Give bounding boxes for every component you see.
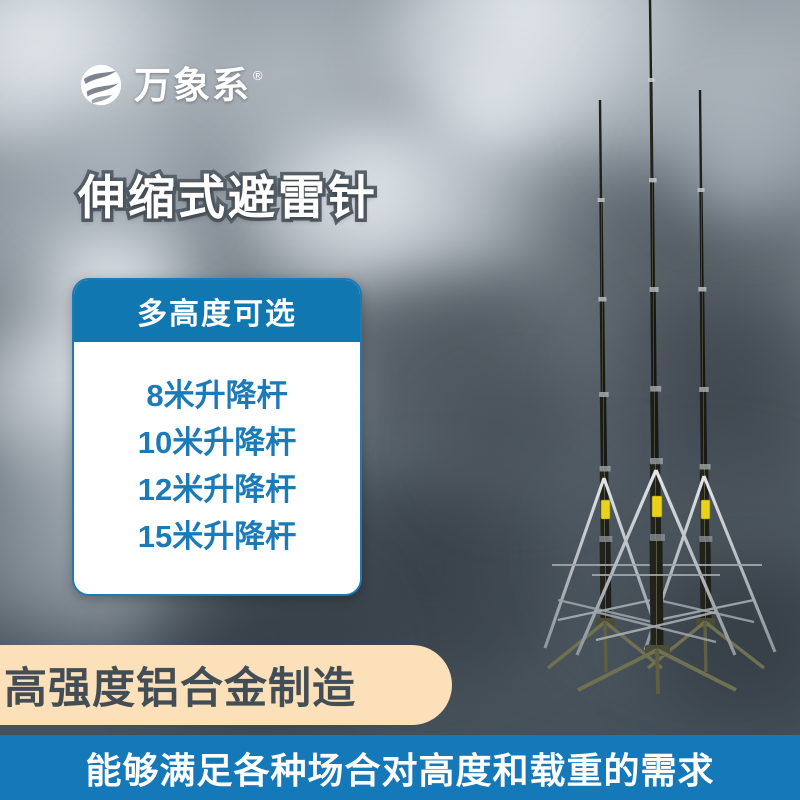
bottom-tagline-strip: 能够满足各种场合对高度和载重的需求 [0, 735, 800, 800]
list-item[interactable]: 12米升降杆 [138, 474, 296, 505]
mast-right [645, 90, 775, 672]
list-item[interactable]: 15米升降杆 [138, 521, 296, 552]
material-highlight-text: 高强度铝合金制造 [4, 654, 356, 716]
height-options-list: 8米升降杆 10米升降杆 12米升降杆 15米升降杆 [74, 342, 360, 594]
list-item[interactable]: 8米升降杆 [146, 380, 287, 411]
mast-left [545, 100, 663, 672]
material-highlight-banner: 高强度铝合金制造 [0, 645, 452, 725]
height-options-card: 多高度可选 8米升降杆 10米升降杆 12米升降杆 15米升降杆 [72, 278, 362, 596]
product-poster: 万象系 ® 伸缩式避雷针 多高度可选 8米升降杆 10米升降杆 12米升降杆 1… [0, 0, 800, 800]
brand-name: 万象系 [134, 67, 251, 104]
brand-logo: 万象系 ® [78, 62, 263, 108]
list-item[interactable]: 10米升降杆 [138, 427, 296, 458]
height-options-header-label: 多高度可选 [137, 289, 297, 333]
registered-trademark-icon: ® [253, 69, 263, 82]
page-title: 伸缩式避雷针 [78, 172, 378, 225]
bottom-tagline-text: 能够满足各种场合对高度和载重的需求 [85, 742, 714, 794]
height-options-header: 多高度可选 [74, 280, 360, 342]
swirl-globe-logo-icon [78, 62, 124, 108]
